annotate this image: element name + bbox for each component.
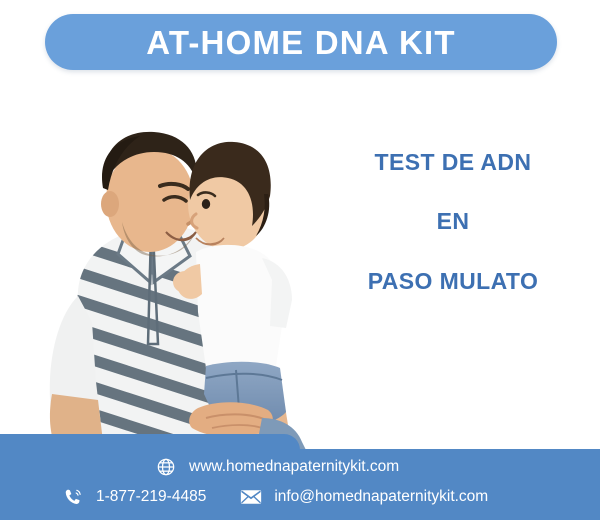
headline-block: TEST DE ADN EN PASO MULATO [318, 150, 588, 294]
father-and-child-photo [0, 82, 332, 450]
page-title: AT-HOME DNA KIT [146, 26, 455, 59]
footer-bar: www.homednapaternitykit.com 1-877-219-44… [0, 434, 600, 520]
headline-line-3: PASO MULATO [318, 269, 588, 294]
footer-phone-item[interactable]: 1-877-219-4485 [62, 486, 206, 508]
headline-line-1: TEST DE ADN [318, 150, 588, 175]
headline-line-2: EN [318, 209, 588, 234]
footer-contact-row: 1-877-219-4485 info@homednapaternitykit.… [62, 486, 488, 508]
envelope-icon [240, 486, 262, 508]
footer-content: www.homednapaternitykit.com 1-877-219-44… [0, 434, 600, 520]
email-text: info@homednapaternitykit.com [274, 489, 488, 505]
website-text: www.homednapaternitykit.com [189, 459, 399, 475]
poster-canvas: AT-HOME DNA KIT [0, 0, 600, 520]
title-pill: AT-HOME DNA KIT [45, 14, 557, 70]
footer-email-item[interactable]: info@homednapaternitykit.com [240, 486, 488, 508]
footer-website-row[interactable]: www.homednapaternitykit.com [155, 456, 399, 478]
father-and-child-illustration [0, 82, 332, 450]
header-band: AT-HOME DNA KIT [0, 0, 600, 88]
globe-icon [155, 456, 177, 478]
phone-icon [62, 486, 84, 508]
phone-text: 1-877-219-4485 [96, 489, 206, 505]
